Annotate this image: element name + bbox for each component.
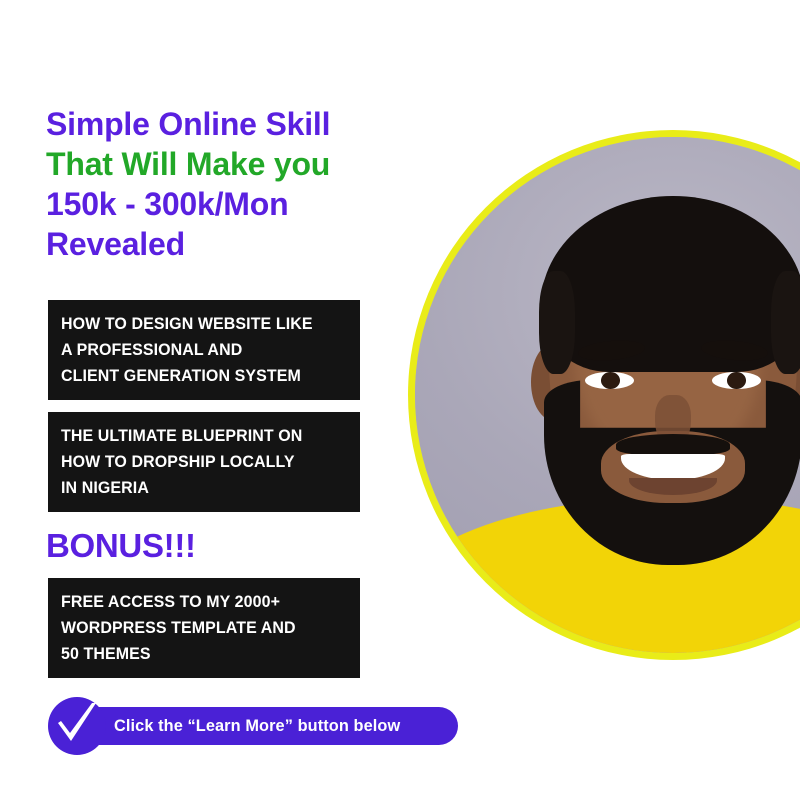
feature-box-dropshipping: THE ULTIMATE BLUEPRINT ON HOW TO DROPSHI… — [48, 412, 360, 512]
headline-line-4: Revealed — [46, 224, 406, 264]
feature-line: HOW TO DROPSHIP LOCALLY — [61, 449, 330, 475]
feature-line: CLIENT GENERATION SYSTEM — [61, 363, 330, 389]
headline: Simple Online Skill That Will Make you 1… — [46, 104, 406, 264]
feature-line: WORDPRESS TEMPLATE AND — [61, 615, 330, 641]
portrait-photo — [415, 137, 800, 653]
feature-line: A PROFESSIONAL AND — [61, 337, 330, 363]
feature-line: THE ULTIMATE BLUEPRINT ON — [61, 423, 330, 449]
eye-right — [712, 372, 761, 390]
moustache — [616, 434, 730, 456]
headline-line-3: 150k - 300k/Mon — [46, 184, 406, 224]
hair-side-left — [539, 271, 575, 374]
feature-line: FREE ACCESS TO MY 2000+ — [61, 589, 330, 615]
portrait-ring — [408, 130, 800, 660]
cta-banner[interactable]: Click the “Learn More” button below — [48, 697, 458, 755]
feature-box-bonus-templates: FREE ACCESS TO MY 2000+ WORDPRESS TEMPLA… — [48, 578, 360, 678]
feature-line: HOW TO DESIGN WEBSITE LIKE — [61, 311, 330, 337]
check-icon — [56, 703, 98, 749]
headline-line-1: Simple Online Skill — [46, 104, 406, 144]
hair-side-right — [771, 271, 800, 374]
headline-line-2: That Will Make you — [46, 144, 406, 184]
feature-line: 50 THEMES — [61, 641, 330, 667]
pupil-right — [727, 372, 746, 389]
pupil-left — [601, 372, 620, 389]
feature-line: IN NIGERIA — [61, 475, 330, 501]
bonus-heading: BONUS!!! — [46, 528, 196, 564]
feature-box-website-design: HOW TO DESIGN WEBSITE LIKE A PROFESSIONA… — [48, 300, 360, 400]
cta-label: Click the “Learn More” button below — [114, 697, 400, 755]
promo-graphic: Simple Online Skill That Will Make you 1… — [0, 0, 800, 800]
cta-circle[interactable] — [48, 697, 106, 755]
